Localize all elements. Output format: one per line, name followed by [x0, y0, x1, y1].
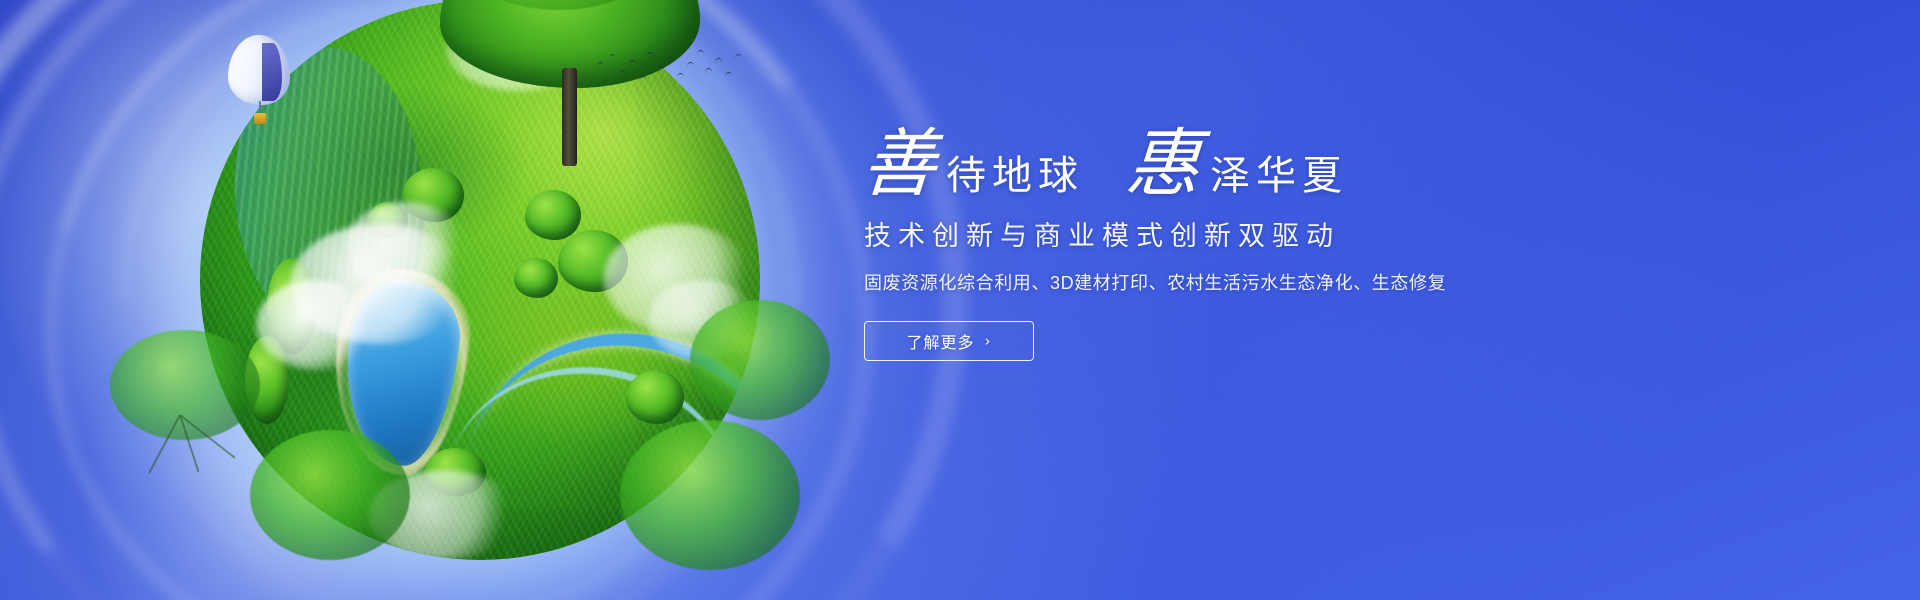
side-tree-right: [690, 300, 850, 500]
tree-canopy: [620, 420, 800, 570]
bird-icon: [619, 70, 626, 76]
cloud: [648, 280, 758, 360]
lake-shore: [324, 262, 477, 481]
learn-more-label: 了解更多: [906, 329, 974, 353]
hot-air-balloon: [228, 35, 290, 127]
subheadline: 技术创新与商业模式创新双驱动: [864, 214, 1562, 253]
bird-flock: [595, 48, 745, 94]
tree-canopy: [250, 430, 410, 560]
bird-icon: [735, 54, 742, 60]
headline-daidiqiu: 待地球: [946, 156, 1084, 196]
bird-icon: [677, 73, 684, 79]
headline-char-shan: 善: [859, 128, 938, 202]
tree-trunk: [562, 68, 577, 166]
side-tree-bottom-left: [250, 430, 430, 600]
bird-icon: [629, 60, 636, 66]
tree-canopy-highlight: [470, 0, 650, 10]
bush: [267, 258, 317, 354]
bird-icon: [667, 57, 674, 63]
tree-canopy: [110, 330, 260, 440]
bird-icon: [697, 50, 704, 56]
cloud: [290, 224, 470, 344]
side-tree-bottom-right: [620, 420, 820, 600]
cloud: [368, 470, 518, 560]
tree-branch: [179, 414, 235, 459]
bush: [402, 168, 464, 222]
bird-icon: [639, 76, 646, 82]
bush: [424, 448, 486, 496]
tree-canopy: [690, 300, 830, 420]
cloud-swirl-inner: [0, 0, 934, 600]
bush: [514, 258, 558, 298]
bird-icon: [725, 72, 732, 78]
chevron-right-icon: ›: [985, 334, 992, 349]
bush: [245, 336, 289, 424]
headline-zehuaxia: 泽华夏: [1210, 156, 1348, 196]
river: [465, 299, 760, 537]
bird-icon: [647, 52, 654, 58]
lake: [336, 275, 465, 470]
cloud: [256, 280, 376, 370]
bird-icon: [597, 62, 604, 68]
river-highlight: [445, 335, 760, 541]
bush: [525, 190, 581, 240]
bird-icon: [705, 68, 712, 74]
learn-more-button[interactable]: 了解更多 ›: [864, 321, 1034, 361]
page-title: 善 待地球 惠 泽华夏: [862, 128, 1562, 202]
hero-copy: 善 待地球 惠 泽华夏 技术创新与商业模式创新双驱动 固废资源化综合利用、3D建…: [862, 128, 1562, 361]
globe-atmosphere-glow: [70, 0, 910, 600]
description-text: 固废资源化综合利用、3D建材打印、农村生活污水生态净化、生态修复: [864, 269, 1562, 295]
bird-icon: [687, 62, 694, 68]
bird-icon: [715, 58, 722, 64]
bird-icon: [609, 54, 616, 60]
bird-icon: [657, 66, 664, 72]
balloon-basket: [254, 113, 266, 124]
tree-branch: [148, 415, 181, 474]
headline-char-hui: 惠: [1123, 128, 1202, 202]
tree-branch: [179, 415, 199, 473]
bush: [368, 202, 408, 238]
side-tree-left: [100, 330, 270, 520]
cloud-swirl-mid: [0, 0, 943, 600]
bush: [558, 230, 628, 292]
cloud: [446, 11, 596, 91]
bush: [626, 370, 684, 424]
cloud: [603, 224, 753, 334]
hero-banner: 善 待地球 惠 泽华夏 技术创新与商业模式创新双驱动 固废资源化综合利用、3D建…: [0, 0, 1920, 600]
cloud: [346, 202, 466, 286]
